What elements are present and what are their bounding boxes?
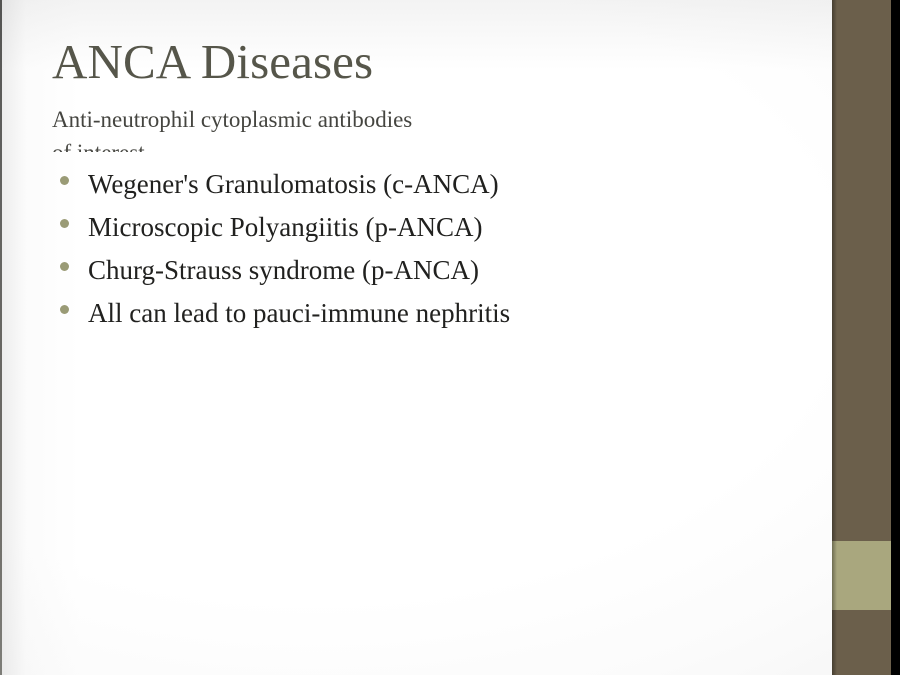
subtitle-block: Anti-neutrophil cytoplasmic antibodies o… [52, 104, 752, 152]
bullet-dot-icon [60, 305, 69, 314]
bullet-dot-icon [60, 219, 69, 228]
subtitle-line-2-clipped: of interest [52, 137, 752, 152]
title-block: ANCA Diseases [52, 36, 792, 88]
right-bezel [891, 0, 900, 675]
list-item: Wegener's Granulomatosis (c-ANCA) [60, 163, 790, 206]
canvas-vignette [0, 0, 832, 675]
subtitle-line-1: Anti-neutrophil cytoplasmic antibodies [52, 104, 752, 137]
list-item-label: Churg-Strauss syndrome (p-ANCA) [88, 249, 790, 292]
list-item: Microscopic Polyangiitis (p-ANCA) [60, 206, 790, 249]
list-item-label: Microscopic Polyangiitis (p-ANCA) [88, 206, 790, 249]
bullet-dot-icon [60, 262, 69, 271]
list-item: Churg-Strauss syndrome (p-ANCA) [60, 249, 790, 292]
slide-left-edge [0, 0, 2, 675]
bullet-list: Wegener's Granulomatosis (c-ANCA) Micros… [60, 163, 790, 335]
bullet-dot-icon [60, 176, 69, 185]
list-item-label: All can lead to pauci-immune nephritis [88, 292, 790, 335]
list-item: All can lead to pauci-immune nephritis [60, 292, 790, 335]
sidebar-accent-block [832, 541, 891, 610]
presentation-slide: ANCA Diseases Anti-neutrophil cytoplasmi… [0, 0, 900, 675]
list-item-label: Wegener's Granulomatosis (c-ANCA) [88, 163, 790, 206]
page-title: ANCA Diseases [52, 36, 792, 88]
slide-canvas: ANCA Diseases Anti-neutrophil cytoplasmi… [0, 0, 832, 675]
slide-decorative-sidebar [832, 0, 891, 675]
